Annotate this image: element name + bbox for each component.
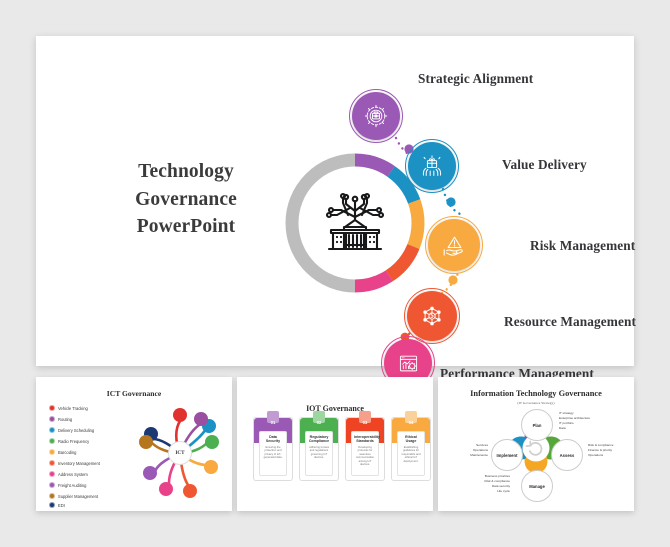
card-text: Adhering to laws and regulations governi… [308,446,330,460]
legend-dot-icon [49,471,55,477]
iot-card-01[interactable]: 01 Data Security Ensuring the protection… [253,417,293,481]
card-body: Regulatory Compliance Adhering to laws a… [305,431,333,476]
legend-dot-icon [49,438,55,444]
node-label-strategic-alignment: Strategic Alignment [418,71,533,87]
lobe-implement[interactable]: Implement [491,439,523,471]
itg-list-plan: IT strategy Enterprise architecture IT p… [559,411,590,431]
legend-label: Vehicle Tracking [58,406,88,411]
list-item: Data [559,426,590,431]
list-item[interactable]: Vehicle Tracking [49,405,88,411]
list-item[interactable]: Inventory Management [49,460,100,466]
legend-label: Routing [58,417,72,422]
card-heading: Interoperability Standards [354,435,376,444]
card-body: Data Security Ensuring the protection an… [259,431,287,476]
thumb-title-ict: ICT Governance [36,389,232,398]
donut-chart [283,151,427,295]
card-heading: Data Security [262,435,284,444]
card-number: 01 [254,420,292,425]
iot-card-04[interactable]: 04 Ethical Usage Establishing guidelines… [391,417,431,481]
legend-label: EDI [58,503,65,508]
legend-dot-icon [49,416,55,422]
card-text: Establishing guidelines for responsible … [400,446,422,464]
ict-center-label: ICT [169,442,191,464]
network-nodes-icon [419,303,445,329]
list-item[interactable]: Address System [49,471,88,477]
card-number: 02 [300,420,338,425]
list-item[interactable]: Radio Frequency [49,438,89,444]
legend-label: Freight Auditing [58,483,86,488]
title-line-3: PowerPoint [96,213,276,241]
hand-warning-icon [441,232,468,259]
node-value-delivery[interactable] [408,142,456,190]
government-building-circuit-icon [319,189,391,257]
legend-dot-icon [49,502,55,508]
card-text: Developing protocols for seamless commun… [354,446,376,467]
page-title: Technology Governance PowerPoint [96,158,276,241]
chart-gear-icon [396,351,421,376]
node-strategic-alignment[interactable] [352,92,400,140]
list-item: Operations [588,453,613,458]
thumbnail-iot-governance[interactable]: IOT Governance 01 Data Security Ensuring… [237,377,433,511]
card-body: Ethical Usage Establishing guidelines fo… [397,431,425,476]
card-heading: Ethical Usage [400,435,422,444]
iot-card-03[interactable]: 03 Interoperability Standards Developing… [345,417,385,481]
legend-label: Delivery Scheduling [58,428,94,433]
legend-label: Radio Frequency [58,439,89,444]
list-item[interactable]: Supplier Management [49,493,98,499]
lobe-manage[interactable]: Manage [521,470,553,502]
itg-list-implement: Services Operations Maintenance [456,443,488,458]
connector-value-to-risk [438,186,472,220]
legend-dot-icon [49,482,55,488]
hands-gift-icon [419,153,445,179]
legend-label: Supplier Management [58,494,98,499]
list-item[interactable]: Barcoding [49,449,76,455]
list-item[interactable]: Freight Auditing [49,482,86,488]
legend-label: Inventory Management [58,461,100,466]
legend-dot-icon [49,449,55,455]
title-line-1: Technology [96,158,276,186]
card-number: 04 [392,420,430,425]
lobe-assess[interactable]: Assess [551,439,583,471]
node-risk-management[interactable] [428,219,480,271]
card-text: Ensuring the protection and privacy of I… [262,446,284,460]
card-body: Interoperability Standards Developing pr… [351,431,379,476]
node-label-risk-management: Risk Management [530,238,635,254]
thumb-title-itg: Information Technology Governance [438,389,634,398]
card-number: 03 [346,420,384,425]
list-item: Maintenance [456,453,488,458]
node-label-resource-management: Resource Management [504,314,636,330]
legend-dot-icon [49,460,55,466]
iot-card-02[interactable]: 02 Regulatory Compliance Adhering to law… [299,417,339,481]
legend-label: Barcoding [58,450,76,455]
list-item[interactable]: Routing [49,416,72,422]
legend-label: Address System [58,472,88,477]
card-heading: Regulatory Compliance [308,435,330,444]
thumbnail-ict-governance[interactable]: ICT Governance Vehicle Tracking Routing … [36,377,232,511]
itg-list-assess: Risk & compliance Finance & priority Ope… [588,443,613,458]
legend-dot-icon [49,493,55,499]
main-slide: Technology Governance PowerPoint [36,36,634,366]
lobe-plan[interactable]: Plan [521,409,553,441]
list-item[interactable]: Delivery Scheduling [49,427,94,433]
thumbnail-it-governance[interactable]: Information Technology Governance (IT Go… [438,377,634,511]
legend-dot-icon [49,427,55,433]
gear-target-icon [363,103,389,129]
thumb-subtitle-itg: (IT Governance Strategy) [438,401,634,405]
legend-dot-icon [49,405,55,411]
title-line-2: Governance [96,186,276,214]
list-item[interactable]: EDI [49,502,65,508]
itg-list-manage: Business priorities Risk & compliance Da… [462,474,510,494]
node-label-value-delivery: Value Delivery [502,157,587,173]
list-item: Life cycle [462,489,510,494]
